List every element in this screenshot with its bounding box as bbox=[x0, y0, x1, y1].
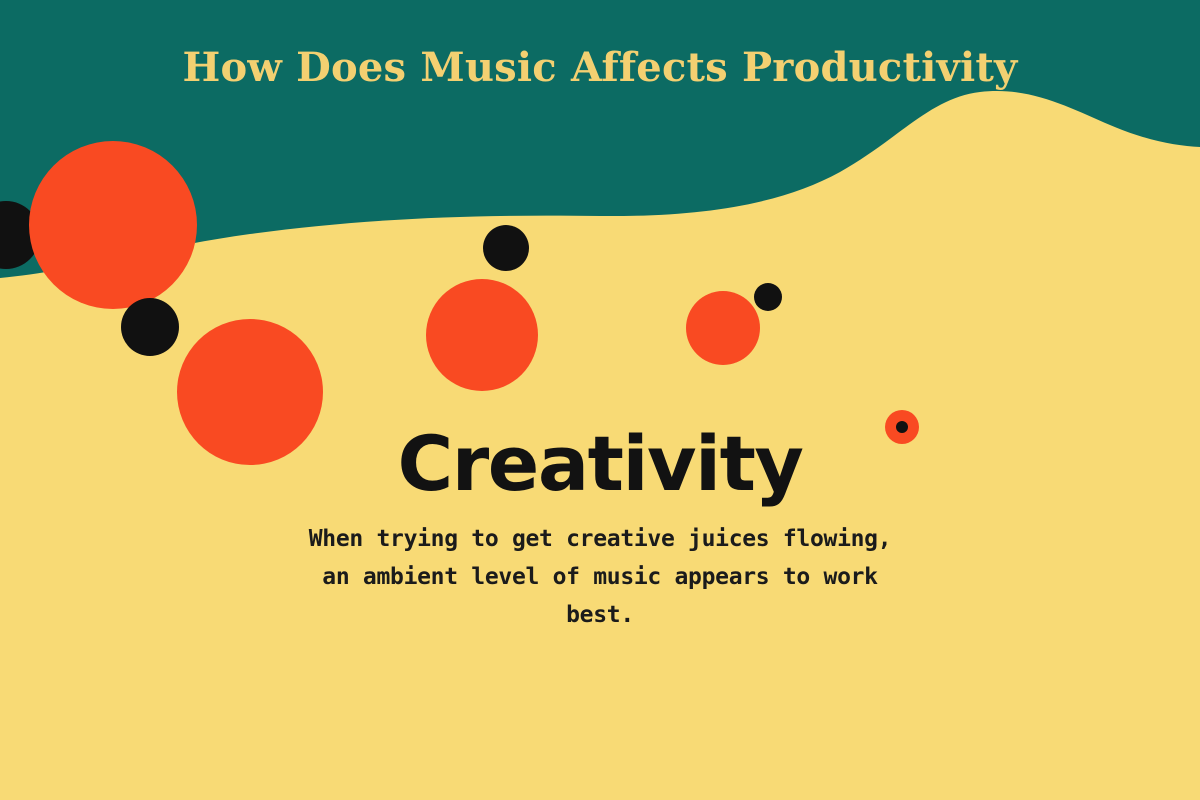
orange-circle-right bbox=[686, 291, 760, 365]
black-circle-center bbox=[483, 225, 529, 271]
page-title: How Does Music Affects Productivity bbox=[0, 43, 1200, 93]
body-line-3: best. bbox=[250, 596, 950, 634]
black-circle-small-left bbox=[121, 298, 179, 356]
black-circle-right bbox=[754, 283, 782, 311]
section-heading: Creativity bbox=[0, 424, 1200, 504]
orange-circle-large-left bbox=[29, 141, 197, 309]
section-body-text: When trying to get creative juices flowi… bbox=[250, 520, 950, 634]
body-line-1: When trying to get creative juices flowi… bbox=[250, 520, 950, 558]
orange-circle-center bbox=[426, 279, 538, 391]
content-block: Creativity When trying to get creative j… bbox=[0, 424, 1200, 634]
infographic-slide: How Does Music Affects Productivity Crea… bbox=[0, 0, 1200, 800]
body-line-2: an ambient level of music appears to wor… bbox=[250, 558, 950, 596]
